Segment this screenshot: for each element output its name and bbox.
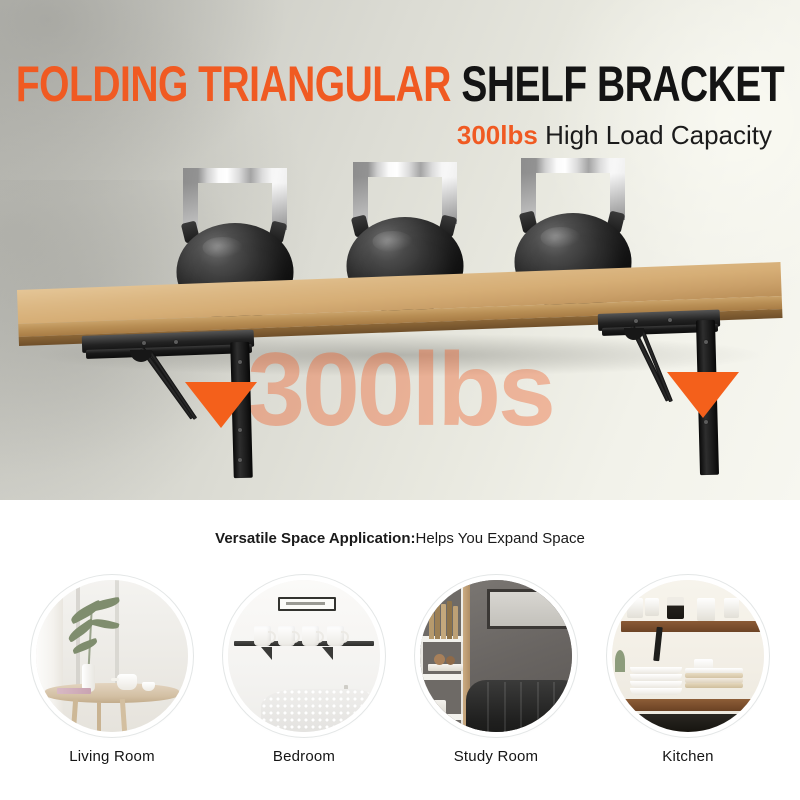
table-leg: [120, 698, 127, 732]
teapot: [117, 674, 137, 690]
capacity-label: High Load Capacity: [545, 120, 772, 150]
bracket-screw: [238, 360, 242, 364]
jar: [432, 700, 446, 714]
book: [441, 604, 446, 639]
bracket-screw: [238, 458, 242, 462]
book: [429, 603, 434, 639]
subtitle: 300lbs High Load Capacity: [0, 122, 800, 148]
room-label: Living Room: [69, 748, 155, 765]
bedroom-scene: [228, 580, 380, 732]
study-room-scene: [420, 580, 572, 732]
section-title-regular: Helps You Expand Space: [416, 530, 585, 547]
mug: [302, 626, 319, 646]
bracket-screw: [704, 340, 708, 344]
bookcase-shelf: [420, 714, 464, 720]
kettlebell-handle: [521, 158, 625, 220]
bracket-screw: [634, 319, 638, 323]
chair-pleat: [553, 682, 555, 732]
mug: [254, 626, 271, 646]
title-orange-part: FOLDING TRIANGULAR: [16, 57, 451, 112]
bracket-screw: [668, 318, 672, 322]
book: [435, 600, 440, 640]
chair-pleat: [487, 682, 489, 732]
mug: [278, 626, 295, 646]
section-title-bold: Versatile Space Application:: [215, 530, 415, 547]
table-leg: [97, 702, 101, 732]
bracket-screw: [238, 428, 242, 432]
shelf-bracket-icon: [322, 647, 333, 660]
room-label: Kitchen: [662, 748, 713, 765]
product-poster: FOLDING TRIANGULAR SHELF BRACKET 300lbs …: [0, 0, 800, 800]
jar: [645, 598, 659, 616]
bracket-screw: [704, 420, 708, 424]
dark-under-shelf: [612, 714, 764, 732]
hero-section: FOLDING TRIANGULAR SHELF BRACKET 300lbs …: [0, 0, 800, 500]
page-title: FOLDING TRIANGULAR SHELF BRACKET: [0, 60, 800, 110]
chair-pleat: [504, 682, 506, 732]
bookcase-shelf: [420, 674, 464, 680]
jar: [627, 598, 643, 618]
wall-frame: [278, 597, 336, 611]
section-title: Versatile Space Application:Helps You Ex…: [0, 531, 800, 546]
book: [453, 606, 458, 639]
plate: [685, 683, 743, 688]
capacity-value: 300lbs: [457, 120, 538, 150]
shelf-bracket: [653, 627, 663, 661]
chair-pleat: [537, 682, 539, 732]
jar: [697, 598, 715, 621]
load-arrow-left-notch: [201, 382, 241, 408]
bracket-screw: [174, 340, 178, 344]
mug: [327, 626, 344, 646]
leather-chair: [466, 680, 572, 732]
room-list: Living Room: [0, 580, 800, 765]
room-item-living-room[interactable]: Living Room: [32, 580, 192, 765]
bowl: [630, 681, 682, 688]
room-item-study-room[interactable]: Study Room: [416, 580, 576, 765]
table-leg: [71, 698, 78, 732]
bowl: [630, 688, 682, 695]
wall-panel: [487, 589, 572, 629]
kettlebell-handle: [353, 162, 457, 224]
living-room-photo: [36, 580, 188, 732]
room-label: Bedroom: [273, 748, 335, 765]
bowl-stack: [630, 667, 682, 691]
kitchen-photo: [612, 580, 764, 732]
kettlebell-handle: [183, 168, 287, 230]
bowl: [630, 674, 682, 681]
load-arrow-right-notch: [683, 372, 723, 398]
lower-wooden-shelf: [618, 699, 764, 711]
decor-ball: [446, 656, 455, 665]
room-item-kitchen[interactable]: Kitchen: [608, 580, 768, 765]
plant: [615, 650, 625, 672]
title-dark-part: SHELF BRACKET: [461, 57, 784, 112]
room-item-bedroom[interactable]: Bedroom: [224, 580, 384, 765]
knit-blanket: [261, 689, 373, 732]
chair-pleat: [520, 682, 522, 732]
book: [57, 688, 91, 694]
plate-stack: [685, 668, 743, 690]
bowl: [630, 667, 682, 674]
kitchen-scene: [612, 580, 764, 732]
bracket-screw: [142, 341, 146, 345]
living-room-scene: [36, 580, 188, 732]
book: [447, 601, 452, 639]
study-room-photo: [420, 580, 572, 732]
dark-jar: [667, 597, 684, 619]
jar: [724, 598, 739, 618]
curtain: [36, 580, 63, 732]
application-section: Versatile Space Application:Helps You Ex…: [0, 500, 800, 800]
shelf-bracket-icon: [261, 647, 272, 660]
bedroom-photo: [228, 580, 380, 732]
upper-wooden-shelf: [621, 621, 764, 632]
room-label: Study Room: [454, 748, 539, 765]
